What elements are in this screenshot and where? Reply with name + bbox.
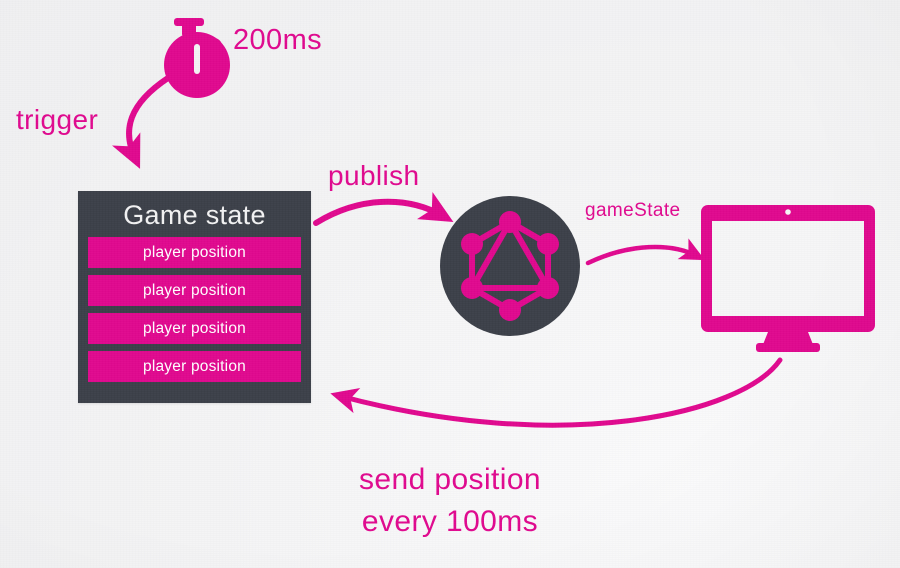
game-state-title: Game state xyxy=(88,198,301,232)
game-state-box: Game state player position player positi… xyxy=(78,191,311,403)
player-position-row: player position xyxy=(88,237,301,268)
publish-label: publish xyxy=(328,160,420,192)
diagram-canvas: Game state player position player positi… xyxy=(0,0,900,568)
player-position-row: player position xyxy=(88,351,301,382)
player-position-row: player position xyxy=(88,313,301,344)
trigger-label: trigger xyxy=(16,104,98,136)
send-position-line-2: every 100ms xyxy=(0,501,900,543)
player-position-row: player position xyxy=(88,275,301,306)
send-position-line-1: send position xyxy=(0,459,900,501)
send-position-caption: send position every 100ms xyxy=(0,459,900,543)
timer-interval-label: 200ms xyxy=(233,24,322,57)
gamestate-label: gameState xyxy=(585,200,681,222)
